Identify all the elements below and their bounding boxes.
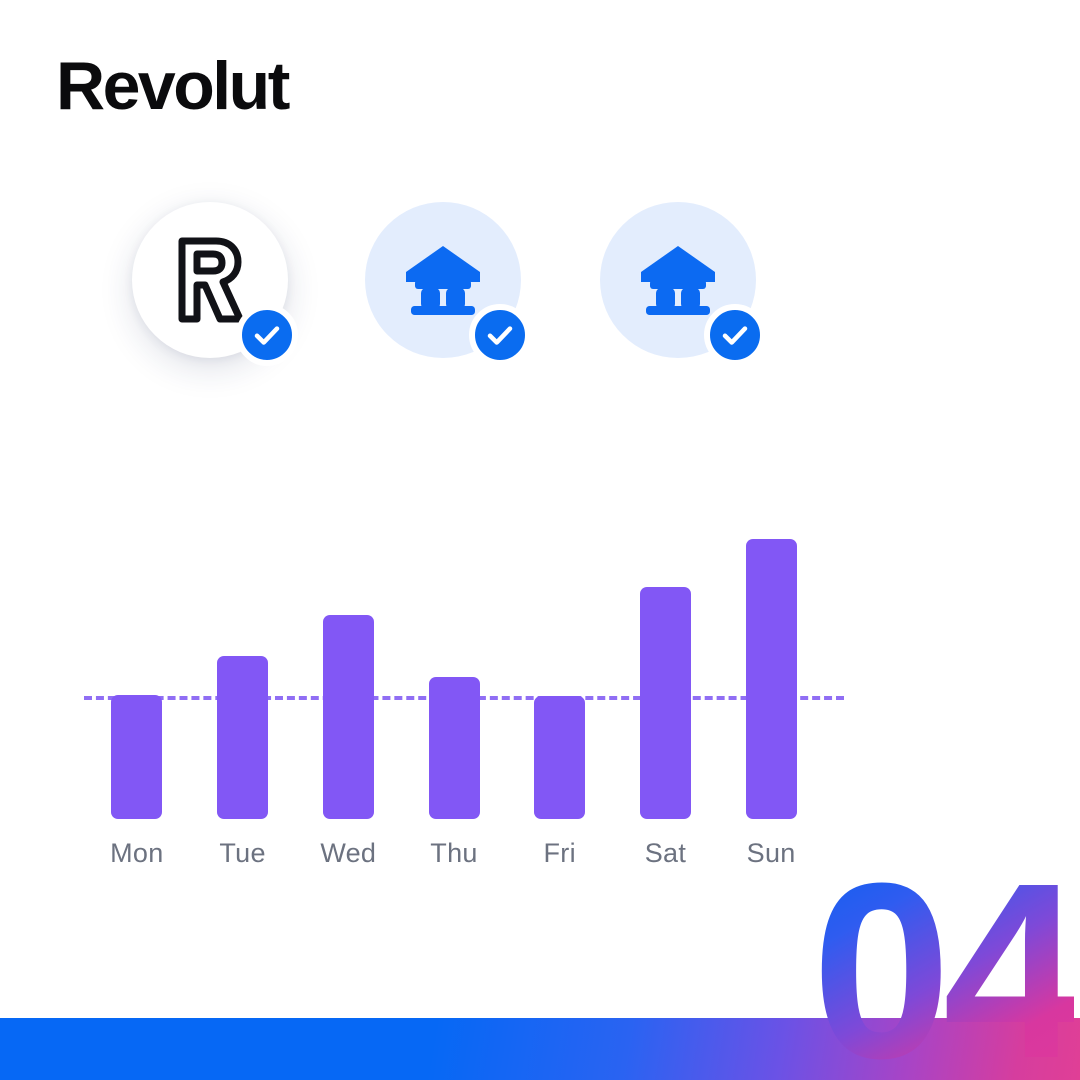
chart-plot-area bbox=[84, 520, 824, 820]
account-badge-bank-2[interactable] bbox=[600, 202, 756, 358]
chart-x-axis: MonTueWedThuFriSatSun bbox=[84, 838, 844, 878]
account-badge-revolut[interactable] bbox=[132, 202, 288, 358]
bank-icon bbox=[638, 244, 718, 316]
check-icon bbox=[719, 319, 751, 351]
check-icon bbox=[484, 319, 516, 351]
bar-sat[interactable] bbox=[640, 587, 691, 819]
bank-icon bbox=[403, 244, 483, 316]
x-label-fri: Fri bbox=[515, 838, 605, 869]
check-icon bbox=[251, 319, 283, 351]
verified-check-badge bbox=[704, 304, 766, 366]
x-label-tue: Tue bbox=[198, 838, 288, 869]
bar-mon[interactable] bbox=[111, 695, 162, 819]
verified-check-badge bbox=[236, 304, 298, 366]
bar-sun[interactable] bbox=[746, 539, 797, 819]
bar-thu[interactable] bbox=[429, 677, 480, 819]
verified-check-badge bbox=[469, 304, 531, 366]
account-badge-bank-1[interactable] bbox=[365, 202, 521, 358]
revolut-r-icon bbox=[172, 237, 248, 323]
x-label-sat: Sat bbox=[620, 838, 710, 869]
linked-accounts-row bbox=[0, 0, 1080, 420]
bar-wed[interactable] bbox=[323, 615, 374, 819]
bar-tue[interactable] bbox=[217, 656, 268, 819]
x-label-mon: Mon bbox=[92, 838, 182, 869]
x-label-thu: Thu bbox=[409, 838, 499, 869]
slide-number: 04 bbox=[812, 846, 1074, 1080]
bar-fri[interactable] bbox=[534, 696, 585, 819]
poster-canvas: Revolut bbox=[0, 0, 1080, 1080]
x-label-wed: Wed bbox=[303, 838, 393, 869]
x-label-sun: Sun bbox=[726, 838, 816, 869]
